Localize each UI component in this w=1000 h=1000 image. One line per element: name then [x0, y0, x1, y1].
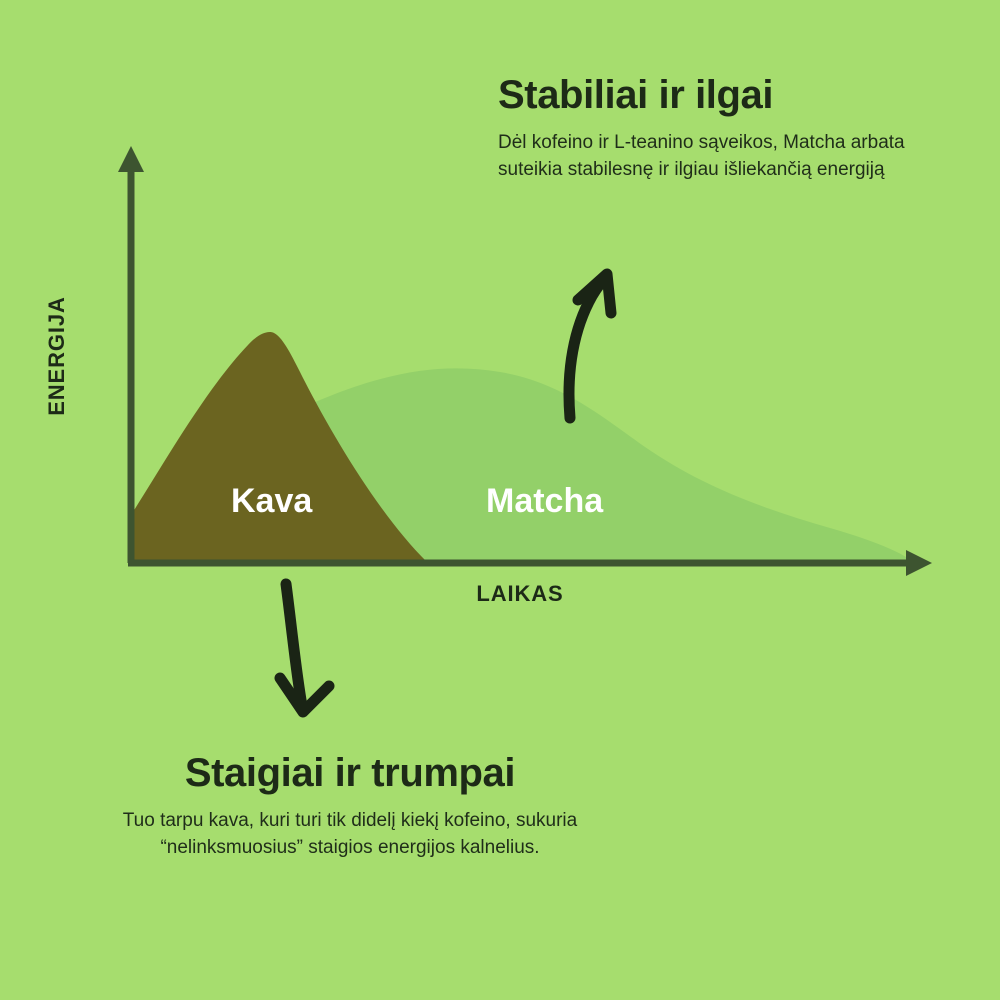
coffee-note-body: Tuo tarpu kava, kuri turi tik didelį kie…: [100, 808, 600, 862]
curve-label-kava: Kava: [231, 482, 312, 521]
coffee-note-block: Staigiai ir trumpai Tuo tarpu kava, kuri…: [100, 752, 600, 862]
coffee-note-heading: Staigiai ir trumpai: [100, 752, 600, 794]
matcha-note-heading: Stabiliai ir ilgai: [498, 74, 950, 116]
y-axis-arrow-icon: [118, 146, 144, 172]
y-axis-title: ENERGIJA: [44, 276, 70, 436]
curved-arrow-up-icon: [569, 274, 611, 418]
infographic-canvas: ENERGIJA LAIKAS Kava Matcha Stabiliai ir…: [0, 0, 1000, 1000]
curve-label-matcha: Matcha: [486, 482, 603, 521]
curved-arrow-down-icon: [280, 584, 329, 712]
x-axis-arrow-icon: [906, 550, 932, 576]
matcha-note-block: Stabiliai ir ilgai Dėl kofeino ir L-tean…: [498, 74, 950, 184]
matcha-note-body: Dėl kofeino ir L-teanino sąveikos, Match…: [498, 130, 936, 184]
x-axis-title: LAIKAS: [430, 581, 610, 607]
